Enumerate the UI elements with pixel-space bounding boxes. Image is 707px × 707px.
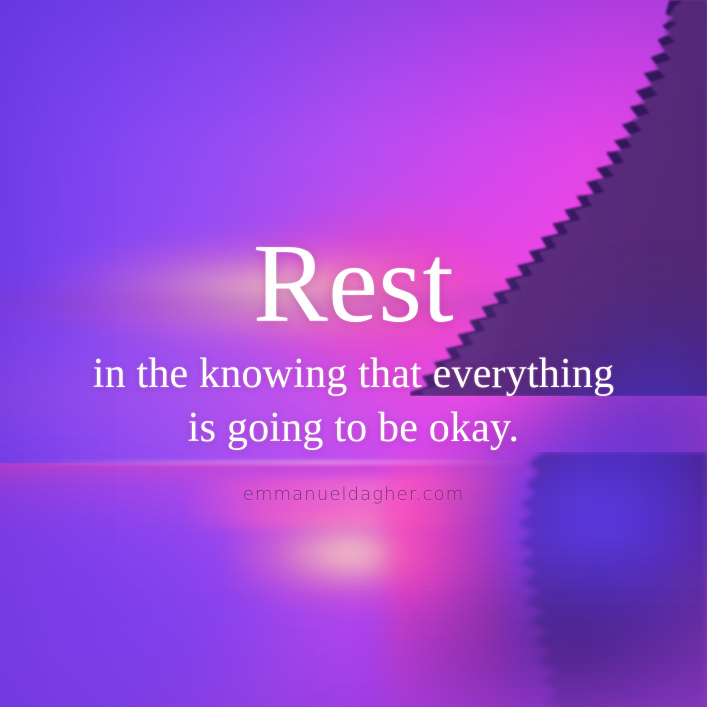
quote-body: in the knowing that everything is going …: [0, 348, 707, 456]
quote-image: Rest in the knowing that everything is g…: [0, 0, 707, 707]
quote-line-1: in the knowing that everything: [0, 348, 707, 402]
quote-headline: Rest: [0, 228, 707, 340]
quote-line-2: is going to be okay.: [0, 402, 707, 456]
credit-watermark: emmanueldagher.com: [0, 484, 707, 505]
quote-text-block: Rest in the knowing that everything is g…: [0, 0, 707, 707]
